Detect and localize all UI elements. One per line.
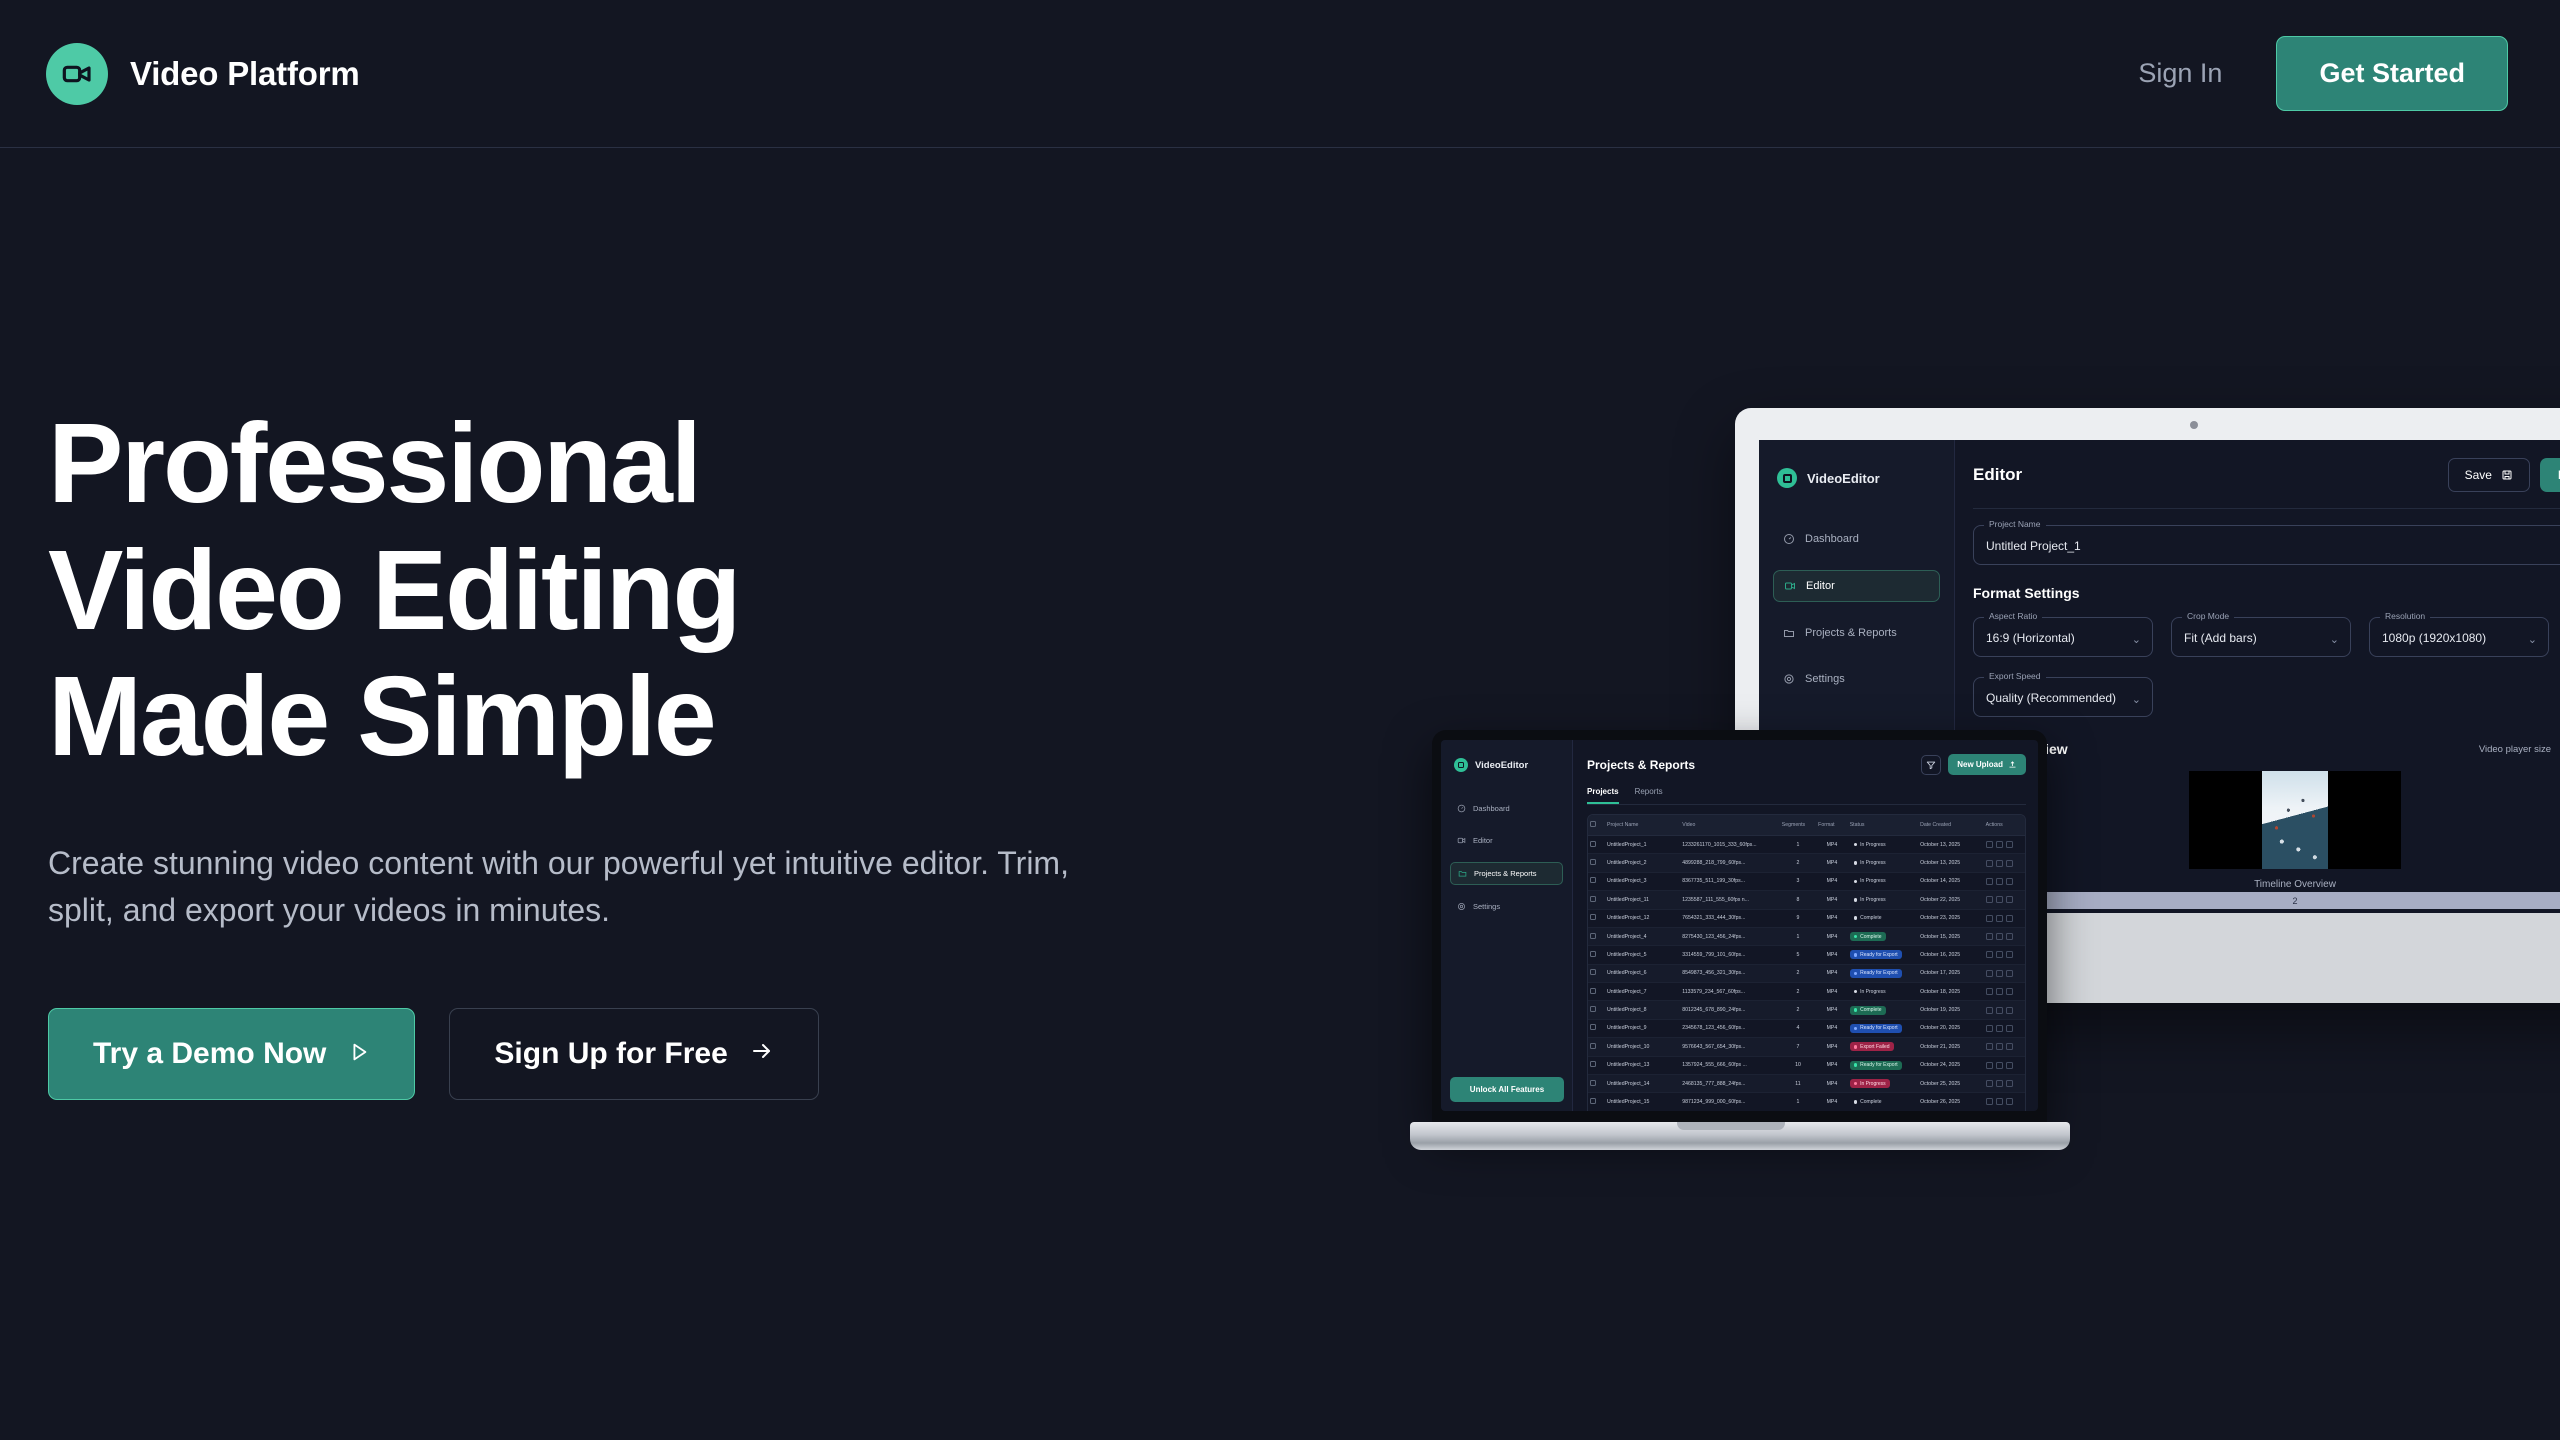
cell-video: 3314559_799_101_60fps...	[1680, 946, 1780, 964]
cell-status: Ready for Export	[1848, 964, 1918, 982]
cell-date-created: October 25, 2025	[1918, 1074, 1984, 1092]
sidebar-label: Settings	[1805, 673, 1845, 685]
column-select-all[interactable]	[1588, 815, 1605, 836]
cell-project-name: UntitledProject_3	[1605, 872, 1680, 890]
cell-date-created: October 15, 2025	[1918, 927, 1984, 945]
sidebar-label: Dashboard	[1473, 804, 1510, 813]
sign-in-button[interactable]: Sign In	[2138, 58, 2222, 89]
delete-icon[interactable]	[2006, 1098, 2013, 1105]
status-label: Complete	[1860, 934, 1881, 940]
laptop-lid: VideoEditor Dashboard Editor Projects & …	[1432, 730, 2047, 1125]
gear-icon	[1457, 902, 1466, 911]
status-label: Ready for Export	[1860, 952, 1898, 958]
table-row[interactable]: UntitledProject_111235587_111_555_60fps …	[1588, 891, 2025, 909]
sidebar-item-projects-reports[interactable]: Projects & Reports	[1773, 618, 1940, 648]
cell-format: MP4	[1816, 1093, 1848, 1111]
edit-icon[interactable]	[1986, 933, 1993, 940]
laptop-brand: VideoEditor	[1441, 758, 1572, 772]
cell-status: Ready for Export	[1848, 1056, 1918, 1074]
row-checkbox[interactable]	[1588, 891, 1605, 909]
edit-icon[interactable]	[1986, 915, 1993, 922]
cell-status: Complete	[1848, 927, 1918, 945]
cell-date-created: October 20, 2025	[1918, 1019, 1984, 1037]
sidebar-item-editor[interactable]: Editor	[1450, 830, 1563, 851]
cell-video: 7654321_333_444_30fps...	[1680, 909, 1780, 927]
cell-project-name: UntitledProject_9	[1605, 1019, 1680, 1037]
cell-segments: 1	[1780, 927, 1816, 945]
cell-video: 9576643_567_654_30fps...	[1680, 1038, 1780, 1056]
cell-actions	[1984, 1019, 2025, 1037]
cell-date-created: October 21, 2025	[1918, 1038, 1984, 1056]
checkbox-icon[interactable]	[1590, 1024, 1596, 1030]
status-dot-icon	[1854, 1008, 1857, 1011]
cell-video: 8275430_123_456_24fps...	[1680, 927, 1780, 945]
speedometer-icon	[1457, 804, 1466, 813]
checkbox-icon[interactable]	[1590, 1006, 1596, 1012]
export-icon[interactable]	[1996, 1043, 2003, 1050]
chevron-down-icon: ⌄	[2528, 633, 2537, 646]
resolution-label: Resolution	[2380, 611, 2430, 621]
edit-icon[interactable]	[1986, 1080, 1993, 1087]
status-dot-icon	[1854, 935, 1857, 938]
arrow-right-icon	[750, 1037, 774, 1071]
editor-topbar: Editor Save Export	[1955, 440, 2560, 506]
heading-line-3: Made Simple	[48, 653, 715, 779]
export-icon[interactable]	[1996, 951, 2003, 958]
edit-icon[interactable]	[1986, 1062, 1993, 1069]
row-checkbox[interactable]	[1588, 1093, 1605, 1111]
status-label: In Progress	[1860, 842, 1886, 848]
delete-icon[interactable]	[2006, 951, 2013, 958]
row-checkbox[interactable]	[1588, 1019, 1605, 1037]
sidebar-item-editor[interactable]: Editor	[1773, 570, 1940, 602]
table-header: Project Name Video Segments Format Statu…	[1588, 815, 2025, 836]
status-dot-icon	[1854, 1027, 1857, 1030]
column-format[interactable]: Format	[1816, 815, 1848, 836]
edit-icon[interactable]	[1986, 1007, 1993, 1014]
cell-segments: 4	[1780, 1019, 1816, 1037]
table-row[interactable]: UntitledProject_71133579_234_567_60fps..…	[1588, 983, 2025, 1001]
cell-actions	[1984, 983, 2025, 1001]
aspect-ratio-label: Aspect Ratio	[1984, 611, 2042, 621]
laptop-header-actions: New Upload	[1921, 754, 2026, 775]
projects-table-wrapper: Project Name Video Segments Format Statu…	[1587, 814, 2026, 1111]
edit-icon[interactable]	[1986, 878, 1993, 885]
cell-video: 8012345_678_890_24fps...	[1680, 1001, 1780, 1019]
cell-date-created: October 17, 2025	[1918, 964, 1984, 982]
save-label: Save	[2465, 468, 2492, 482]
edit-icon[interactable]	[1986, 1043, 1993, 1050]
delete-icon[interactable]	[2006, 841, 2013, 848]
floppy-disk-icon	[2501, 469, 2513, 481]
header-actions: Sign In Get Started	[2138, 36, 2508, 111]
status-label: Ready for Export	[1860, 1025, 1898, 1031]
status-dot-icon	[1854, 972, 1857, 975]
column-project-name[interactable]: Project Name	[1605, 815, 1680, 836]
status-label: Complete	[1860, 1099, 1881, 1105]
cell-date-created: October 16, 2025	[1918, 946, 1984, 964]
cell-segments: 7	[1780, 1038, 1816, 1056]
cell-video: 9871234_999_000_60fps...	[1680, 1093, 1780, 1111]
checkbox-icon[interactable]	[1590, 859, 1596, 865]
cell-status: Complete	[1848, 909, 1918, 927]
status-badge: Complete	[1850, 1006, 1886, 1015]
try-demo-button[interactable]: Try a Demo Now	[48, 1008, 415, 1100]
sidebar-item-projects-reports[interactable]: Projects & Reports	[1450, 862, 1563, 885]
video-clip-icon	[1784, 580, 1796, 592]
checkbox-icon[interactable]	[1590, 1098, 1596, 1104]
cell-project-name: UntitledProject_13	[1605, 1056, 1680, 1074]
cell-date-created: October 23, 2025	[1918, 909, 1984, 927]
delete-icon[interactable]	[2006, 970, 2013, 977]
hero-subtitle: Create stunning video content with our p…	[48, 840, 1138, 935]
cell-segments: 2	[1780, 854, 1816, 872]
cell-project-name: UntitledProject_5	[1605, 946, 1680, 964]
export-icon[interactable]	[1996, 896, 2003, 903]
edit-icon[interactable]	[1986, 841, 1993, 848]
table-row[interactable]: UntitledProject_53314559_799_101_60fps..…	[1588, 946, 2025, 964]
status-label: In Progress	[1860, 1081, 1886, 1087]
cell-project-name: UntitledProject_4	[1605, 927, 1680, 945]
export-icon[interactable]	[1996, 878, 2003, 885]
column-video[interactable]: Video	[1680, 815, 1780, 836]
cell-project-name: UntitledProject_2	[1605, 854, 1680, 872]
status-label: Complete	[1860, 1007, 1881, 1013]
export-speed-row: Export Speed Quality (Recommended) ⌄	[1955, 657, 2560, 717]
cell-format: MP4	[1816, 946, 1848, 964]
status-label: Ready for Export	[1860, 1062, 1898, 1068]
row-checkbox[interactable]	[1588, 836, 1605, 854]
tab-reports[interactable]: Reports	[1635, 787, 1663, 804]
cell-actions	[1984, 927, 2025, 945]
project-name-input[interactable]: Project Name Untitled Project_1	[1973, 525, 2560, 565]
checkbox-icon[interactable]	[1590, 1080, 1596, 1086]
cell-actions	[1984, 909, 2025, 927]
save-button[interactable]: Save	[2448, 458, 2530, 492]
cell-project-name: UntitledProject_1	[1605, 836, 1680, 854]
row-checkbox[interactable]	[1588, 964, 1605, 982]
sidebar-label: Projects & Reports	[1805, 627, 1897, 639]
edit-icon[interactable]	[1986, 896, 1993, 903]
delete-icon[interactable]	[2006, 1043, 2013, 1050]
table-row[interactable]: UntitledProject_92345678_123_456_60fps..…	[1588, 1019, 2025, 1037]
laptop-sidebar: VideoEditor Dashboard Editor Projects & …	[1441, 740, 1573, 1111]
cell-actions	[1984, 1056, 2025, 1074]
table-row[interactable]: UntitledProject_11233261170_1015_333_60f…	[1588, 836, 2025, 854]
checkbox-icon[interactable]	[1590, 877, 1596, 883]
upload-icon	[2008, 760, 2017, 769]
cell-video: 2345678_123_456_60fps...	[1680, 1019, 1780, 1037]
delete-icon[interactable]	[2006, 878, 2013, 885]
delete-icon[interactable]	[2006, 1062, 2013, 1069]
site-header: Video Platform Sign In Get Started	[0, 0, 2560, 148]
cell-segments: 2	[1780, 983, 1816, 1001]
resolution-value: 1080p (1920x1080)	[2382, 631, 2486, 645]
status-badge: In Progress	[1850, 895, 1890, 904]
delete-icon[interactable]	[2006, 915, 2013, 922]
export-icon[interactable]	[1996, 915, 2003, 922]
status-label: Export Failed	[1860, 1044, 1889, 1050]
aspect-ratio-select[interactable]: Aspect Ratio 16:9 (Horizontal) ⌄	[1973, 617, 2153, 657]
table-row[interactable]: UntitledProject_131357924_555_666_60fps …	[1588, 1056, 2025, 1074]
video-preview: Timeline Overview	[2189, 771, 2401, 890]
sidebar-label: Dashboard	[1805, 533, 1859, 545]
resolution-select[interactable]: Resolution 1080p (1920x1080) ⌄	[2369, 617, 2549, 657]
cell-project-name: UntitledProject_12	[1605, 909, 1680, 927]
cell-project-name: UntitledProject_11	[1605, 891, 1680, 909]
cell-actions	[1984, 891, 2025, 909]
cell-video: 8549873_456_321_30fps...	[1680, 964, 1780, 982]
export-speed-value: Quality (Recommended)	[1986, 691, 2116, 705]
column-segments[interactable]: Segments	[1780, 815, 1816, 836]
cell-actions	[1984, 1001, 2025, 1019]
page-title: Professional Video Editing Made Simple	[48, 400, 1250, 780]
unlock-all-features-button[interactable]: Unlock All Features	[1450, 1077, 1564, 1102]
status-badge: In Progress	[1850, 877, 1890, 886]
cell-format: MP4	[1816, 964, 1848, 982]
status-badge: In Progress	[1850, 840, 1890, 849]
cell-segments: 5	[1780, 946, 1816, 964]
row-checkbox[interactable]	[1588, 1001, 1605, 1019]
sign-up-label: Sign Up for Free	[494, 1037, 727, 1071]
sidebar-label: Settings	[1473, 902, 1500, 911]
cell-segments: 11	[1780, 1074, 1816, 1092]
cell-format: MP4	[1816, 854, 1848, 872]
format-settings-row: Aspect Ratio 16:9 (Horizontal) ⌄ Crop Mo…	[1955, 617, 2560, 657]
status-label: Complete	[1860, 915, 1881, 921]
sign-up-button[interactable]: Sign Up for Free	[449, 1008, 818, 1100]
cell-actions	[1984, 872, 2025, 890]
cell-format: MP4	[1816, 1038, 1848, 1056]
checkbox-icon[interactable]	[1590, 821, 1596, 827]
video-player-size-slider[interactable]: Video player size	[2479, 744, 2560, 755]
cell-status: Ready for Export	[1848, 1019, 1918, 1037]
export-icon[interactable]	[1996, 988, 2003, 995]
edit-icon[interactable]	[1986, 951, 1993, 958]
export-icon[interactable]	[1996, 860, 2003, 867]
status-badge: Ready for Export	[1850, 969, 1902, 978]
export-icon[interactable]	[1996, 1062, 2003, 1069]
edit-icon[interactable]	[1986, 1098, 1993, 1105]
export-icon[interactable]	[1996, 1098, 2003, 1105]
cell-format: MP4	[1816, 1074, 1848, 1092]
cell-format: MP4	[1816, 891, 1848, 909]
projects-table: Project Name Video Segments Format Statu…	[1588, 815, 2025, 1111]
cell-status: In Progress	[1848, 872, 1918, 890]
cell-actions	[1984, 946, 2025, 964]
status-dot-icon	[1854, 1063, 1857, 1066]
delete-icon[interactable]	[2006, 1080, 2013, 1087]
cell-actions	[1984, 836, 2025, 854]
cell-date-created: October 18, 2025	[1918, 983, 1984, 1001]
cell-segments: 1	[1780, 836, 1816, 854]
project-name-label: Project Name	[1984, 519, 2046, 529]
table-body: UntitledProject_11233261170_1015_333_60f…	[1588, 836, 2025, 1112]
export-icon[interactable]	[1996, 1025, 2003, 1032]
export-icon[interactable]	[1996, 970, 2003, 977]
editor-actions: Save Export	[2448, 458, 2560, 492]
row-checkbox[interactable]	[1588, 872, 1605, 890]
editor-page-title: Editor	[1973, 465, 2022, 485]
cell-project-name: UntitledProject_8	[1605, 1001, 1680, 1019]
timeline-value: 2	[2292, 896, 2297, 906]
crop-mode-select[interactable]: Crop Mode Fit (Add bars) ⌄	[2171, 617, 2351, 657]
status-badge: In Progress	[1850, 1079, 1890, 1088]
sidebar-item-dashboard[interactable]: Dashboard	[1450, 798, 1563, 819]
cell-segments: 2	[1780, 964, 1816, 982]
row-checkbox[interactable]	[1588, 1074, 1605, 1092]
status-dot-icon	[1854, 990, 1857, 993]
status-label: In Progress	[1860, 897, 1886, 903]
checkbox-icon[interactable]	[1590, 1061, 1596, 1067]
status-dot-icon	[1854, 861, 1857, 864]
checkbox-icon[interactable]	[1590, 841, 1596, 847]
heading-line-1: Professional	[48, 400, 700, 526]
status-badge: Ready for Export	[1850, 1024, 1902, 1033]
delete-icon[interactable]	[2006, 896, 2013, 903]
export-icon[interactable]	[1996, 841, 2003, 848]
video-preview-letterbox[interactable]	[2189, 771, 2401, 869]
table-header-row: Project Name Video Segments Format Statu…	[1588, 815, 2025, 836]
checkbox-icon[interactable]	[1590, 914, 1596, 920]
cell-project-name: UntitledProject_7	[1605, 983, 1680, 1001]
cell-format: MP4	[1816, 1001, 1848, 1019]
status-label: In Progress	[1860, 860, 1886, 866]
row-checkbox[interactable]	[1588, 983, 1605, 1001]
checkbox-icon[interactable]	[1590, 951, 1596, 957]
status-dot-icon	[1854, 843, 1857, 846]
row-checkbox[interactable]	[1588, 854, 1605, 872]
hero-section: Professional Video Editing Made Simple C…	[0, 148, 1250, 1100]
status-dot-icon	[1854, 1045, 1857, 1048]
laptop-tabs: Projects Reports	[1587, 787, 2026, 805]
export-icon[interactable]	[1996, 1080, 2003, 1087]
cell-date-created: October 22, 2025	[1918, 891, 1984, 909]
column-status[interactable]: Status	[1848, 815, 1918, 836]
cell-format: MP4	[1816, 983, 1848, 1001]
cell-date-created: October 24, 2025	[1918, 1056, 1984, 1074]
cell-actions	[1984, 964, 2025, 982]
new-upload-button[interactable]: New Upload	[1948, 754, 2026, 775]
row-checkbox[interactable]	[1588, 1056, 1605, 1074]
export-icon[interactable]	[1996, 933, 2003, 940]
status-badge: Complete	[1850, 914, 1886, 923]
row-checkbox[interactable]	[1588, 946, 1605, 964]
export-icon[interactable]	[1996, 1007, 2003, 1014]
cell-status: Complete	[1848, 1001, 1918, 1019]
status-badge: Ready for Export	[1850, 950, 1902, 959]
export-speed-select[interactable]: Export Speed Quality (Recommended) ⌄	[1973, 677, 2153, 717]
status-dot-icon	[1854, 1082, 1857, 1085]
cell-format: MP4	[1816, 1019, 1848, 1037]
cell-date-created: October 13, 2025	[1918, 854, 1984, 872]
checkbox-icon[interactable]	[1590, 933, 1596, 939]
tab-projects[interactable]: Projects	[1587, 787, 1619, 804]
table-row[interactable]: UntitledProject_88012345_678_890_24fps..…	[1588, 1001, 2025, 1019]
sidebar-item-settings[interactable]: Settings	[1773, 664, 1940, 694]
table-row[interactable]: UntitledProject_109576643_567_654_30fps.…	[1588, 1038, 2025, 1056]
checkbox-icon[interactable]	[1590, 1043, 1596, 1049]
edit-icon[interactable]	[1986, 860, 1993, 867]
cell-status: Export Failed	[1848, 1038, 1918, 1056]
row-checkbox[interactable]	[1588, 927, 1605, 945]
cell-segments: 8	[1780, 891, 1816, 909]
cell-actions	[1984, 854, 2025, 872]
checkbox-icon[interactable]	[1590, 988, 1596, 994]
folder-icon	[1458, 869, 1467, 878]
table-row[interactable]: UntitledProject_68549873_456_321_30fps..…	[1588, 964, 2025, 982]
status-dot-icon	[1854, 898, 1857, 901]
brand-name: Video Platform	[130, 55, 359, 93]
cell-format: MP4	[1816, 1056, 1848, 1074]
row-checkbox[interactable]	[1588, 1038, 1605, 1056]
delete-icon[interactable]	[2006, 933, 2013, 940]
cell-video: 8367735_511_199_30fps...	[1680, 872, 1780, 890]
cell-video: 2468135_777_888_24fps...	[1680, 1074, 1780, 1092]
brand-logo[interactable]: Video Platform	[46, 43, 359, 105]
edit-icon[interactable]	[1986, 1025, 1993, 1032]
building-photo-thumbnail	[2262, 771, 2328, 869]
status-dot-icon	[1854, 953, 1857, 956]
cell-status: Ready for Export	[1848, 946, 1918, 964]
sidebar-label: Projects & Reports	[1474, 869, 1537, 878]
filter-button[interactable]	[1921, 755, 1941, 775]
status-dot-icon	[1854, 880, 1857, 883]
status-badge: Complete	[1850, 932, 1886, 941]
cell-video: 1235587_111_555_60fps n...	[1680, 891, 1780, 909]
cell-status: In Progress	[1848, 891, 1918, 909]
editor-brand-name: VideoEditor	[1807, 471, 1880, 486]
table-row[interactable]: UntitledProject_127654321_333_444_30fps.…	[1588, 909, 2025, 927]
table-row[interactable]: UntitledProject_48275430_123_456_24fps..…	[1588, 927, 2025, 945]
table-row[interactable]: UntitledProject_159871234_999_000_60fps.…	[1588, 1093, 2025, 1111]
table-row[interactable]: UntitledProject_24899288_218_799_60fps..…	[1588, 854, 2025, 872]
cell-video: 1233261170_1015_333_60fps...	[1680, 836, 1780, 854]
folder-icon	[1783, 627, 1795, 639]
webcam-dot-icon	[2190, 421, 2198, 429]
sidebar-item-dashboard[interactable]: Dashboard	[1773, 524, 1940, 554]
status-badge: In Progress	[1850, 987, 1890, 996]
new-upload-label: New Upload	[1957, 760, 2003, 769]
edit-icon[interactable]	[1986, 988, 1993, 995]
delete-icon[interactable]	[2006, 860, 2013, 867]
row-checkbox[interactable]	[1588, 909, 1605, 927]
get-started-button[interactable]: Get Started	[2276, 36, 2508, 111]
format-settings-title: Format Settings	[1973, 585, 2560, 601]
column-date-created[interactable]: Date Created	[1918, 815, 1984, 836]
cell-date-created: October 13, 2025	[1918, 836, 1984, 854]
table-row[interactable]: UntitledProject_38367735_511_199_30fps..…	[1588, 872, 2025, 890]
delete-icon[interactable]	[2006, 1025, 2013, 1032]
sidebar-item-settings[interactable]: Settings	[1450, 896, 1563, 917]
chevron-down-icon: ⌄	[2132, 693, 2141, 706]
cell-format: MP4	[1816, 872, 1848, 890]
delete-icon[interactable]	[2006, 988, 2013, 995]
export-button[interactable]: Export	[2540, 458, 2560, 492]
laptop-notch	[1677, 1122, 1785, 1130]
edit-icon[interactable]	[1986, 970, 1993, 977]
table-row[interactable]: UntitledProject_142468135_777_888_24fps.…	[1588, 1074, 2025, 1092]
checkbox-icon[interactable]	[1590, 896, 1596, 902]
laptop-brand-name: VideoEditor	[1475, 760, 1528, 771]
cell-segments: 1	[1780, 1093, 1816, 1111]
delete-icon[interactable]	[2006, 1007, 2013, 1014]
cell-video: 1357924_555_666_60fps ...	[1680, 1056, 1780, 1074]
cell-actions	[1984, 1093, 2025, 1111]
checkbox-icon[interactable]	[1590, 969, 1596, 975]
cell-status: Complete	[1848, 1093, 1918, 1111]
cell-project-name: UntitledProject_15	[1605, 1093, 1680, 1111]
